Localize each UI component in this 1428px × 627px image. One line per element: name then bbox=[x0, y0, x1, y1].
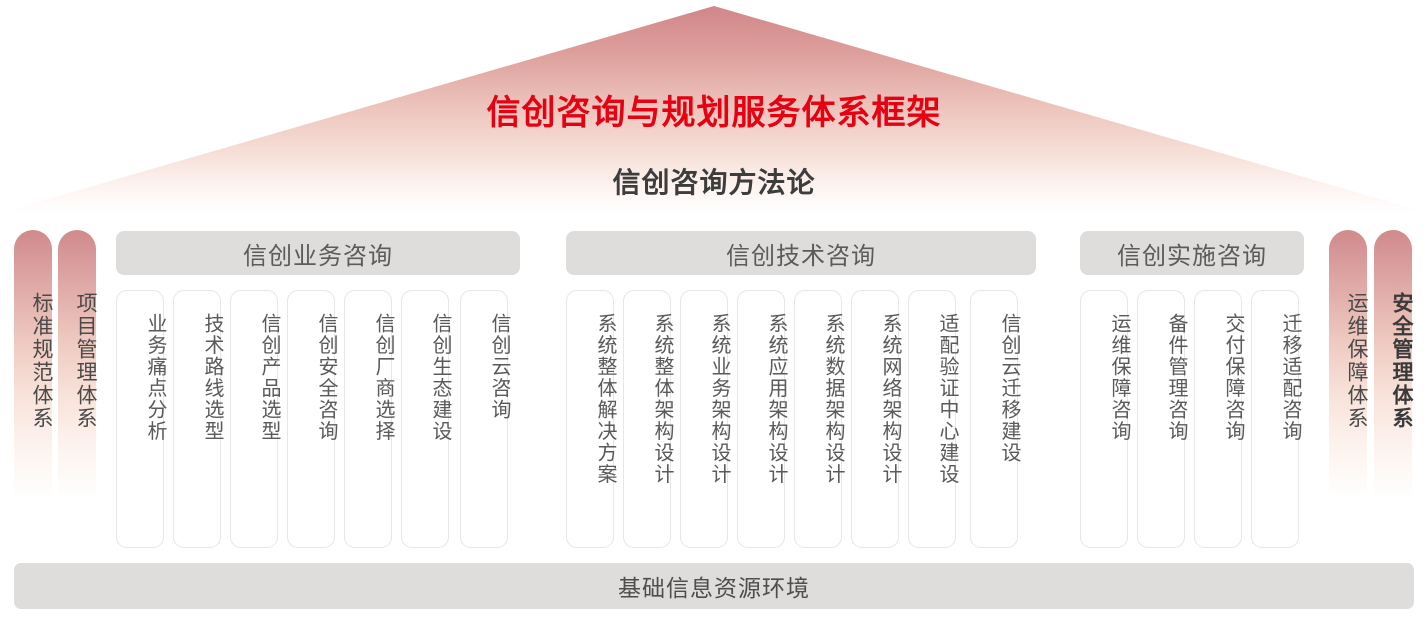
card-label: 系统整体架构设计 bbox=[624, 313, 672, 485]
card-item[interactable]: 系统整体架构设计 bbox=[623, 290, 671, 548]
card-label: 信创厂商选择 bbox=[345, 313, 393, 442]
group-header-label: 信创技术咨询 bbox=[726, 236, 876, 271]
main-title: 信创咨询与规划服务体系框架 bbox=[0, 96, 1428, 130]
card-label: 系统应用架构设计 bbox=[738, 313, 786, 485]
pillar-label: 标准规范体系 bbox=[14, 292, 52, 430]
card-item[interactable]: 系统整体解决方案 bbox=[566, 290, 614, 548]
card-label: 技术路线选型 bbox=[174, 313, 222, 442]
card-label: 系统业务架构设计 bbox=[681, 313, 729, 485]
card-item[interactable]: 信创厂商选择 bbox=[344, 290, 392, 548]
card-label: 系统数据架构设计 bbox=[795, 313, 843, 485]
card-item[interactable]: 备件管理咨询 bbox=[1137, 290, 1185, 548]
card-item[interactable]: 信创产品选型 bbox=[230, 290, 278, 548]
card-item[interactable]: 系统网络架构设计 bbox=[851, 290, 899, 548]
card-label: 信创云咨询 bbox=[461, 313, 509, 421]
card-item[interactable]: 业务痛点分析 bbox=[116, 290, 164, 548]
pillar-security-management[interactable]: 安全管理体系 bbox=[1374, 230, 1412, 550]
pillar-ops-guarantee[interactable]: 运维保障体系 bbox=[1329, 230, 1367, 550]
card-item[interactable]: 信创云迁移建设 bbox=[970, 290, 1018, 548]
card-label: 系统网络架构设计 bbox=[852, 313, 900, 485]
card-label: 迁移适配咨询 bbox=[1252, 313, 1300, 442]
card-label: 备件管理咨询 bbox=[1138, 313, 1186, 442]
card-label: 业务痛点分析 bbox=[117, 313, 165, 442]
card-label: 交付保障咨询 bbox=[1195, 313, 1243, 442]
group-header-label: 信创实施咨询 bbox=[1117, 236, 1267, 271]
card-item[interactable]: 交付保障咨询 bbox=[1194, 290, 1242, 548]
pillar-standard-spec[interactable]: 标准规范体系 bbox=[14, 230, 52, 550]
card-item[interactable]: 技术路线选型 bbox=[173, 290, 221, 548]
diagram-canvas: 信创咨询与规划服务体系框架 信创咨询方法论 标准规范体系 项目管理体系 运维保障… bbox=[0, 0, 1428, 627]
card-label: 运维保障咨询 bbox=[1081, 313, 1129, 442]
card-item[interactable]: 适配验证中心建设 bbox=[908, 290, 956, 548]
pillar-label: 项目管理体系 bbox=[58, 292, 96, 430]
card-label: 信创生态建设 bbox=[402, 313, 450, 442]
card-item[interactable]: 系统应用架构设计 bbox=[737, 290, 785, 548]
group-header-business[interactable]: 信创业务咨询 bbox=[116, 231, 520, 275]
card-item[interactable]: 系统业务架构设计 bbox=[680, 290, 728, 548]
card-label: 信创安全咨询 bbox=[288, 313, 336, 442]
foundation-bar[interactable]: 基础信息资源环境 bbox=[14, 563, 1414, 609]
card-label: 信创云迁移建设 bbox=[971, 313, 1019, 464]
pillar-project-management[interactable]: 项目管理体系 bbox=[58, 230, 96, 550]
pillar-label: 安全管理体系 bbox=[1374, 292, 1412, 430]
card-item[interactable]: 信创生态建设 bbox=[401, 290, 449, 548]
card-item[interactable]: 信创安全咨询 bbox=[287, 290, 335, 548]
card-label: 系统整体解决方案 bbox=[567, 313, 615, 485]
card-item[interactable]: 信创云咨询 bbox=[460, 290, 508, 548]
card-item[interactable]: 运维保障咨询 bbox=[1080, 290, 1128, 548]
group-header-technology[interactable]: 信创技术咨询 bbox=[566, 231, 1036, 275]
card-item[interactable]: 系统数据架构设计 bbox=[794, 290, 842, 548]
card-label: 信创产品选型 bbox=[231, 313, 279, 442]
group-header-implementation[interactable]: 信创实施咨询 bbox=[1080, 231, 1304, 275]
group-header-label: 信创业务咨询 bbox=[243, 236, 393, 271]
foundation-label: 基础信息资源环境 bbox=[618, 569, 810, 603]
card-item[interactable]: 迁移适配咨询 bbox=[1251, 290, 1299, 548]
sub-title: 信创咨询方法论 bbox=[0, 169, 1428, 197]
card-label: 适配验证中心建设 bbox=[909, 313, 957, 485]
pillar-label: 运维保障体系 bbox=[1329, 292, 1367, 430]
